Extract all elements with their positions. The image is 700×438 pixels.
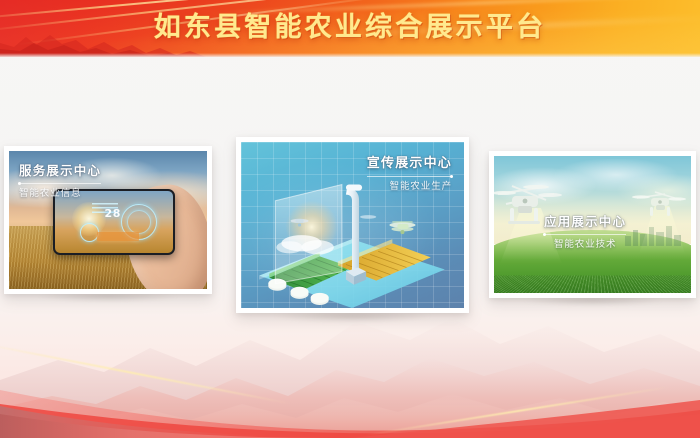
background-ribbons: [0, 318, 700, 438]
hud-ring-inner-icon: [127, 210, 151, 234]
card-promotion-text: 宣传展示中心 智能农业生产: [367, 156, 452, 193]
hud-ring-small-icon: [80, 223, 99, 242]
card-application-divider: [544, 234, 626, 235]
card-application-subtitle: 智能农业技术: [544, 238, 626, 251]
card-promotion-image: 宣传展示中心 智能农业生产: [241, 142, 464, 308]
drone-right-icon: [631, 186, 689, 220]
card-service-text: 服务展示中心 智能农业信息: [19, 163, 101, 200]
card-service-divider: [19, 183, 101, 184]
page-title: 如东县智能农业综合展示平台: [0, 7, 700, 49]
card-promotion[interactable]: 宣传展示中心 智能农业生产: [236, 137, 469, 313]
hud-temperature: 28: [105, 207, 121, 220]
card-application[interactable]: 应用展示中心 智能农业技术: [489, 151, 696, 298]
hud-chip: [97, 232, 139, 241]
app-root: 如东县智能农业综合展示平台: [0, 0, 700, 438]
card-promotion-subtitle: 智能农业生产: [367, 180, 452, 193]
card-service[interactable]: 28 服务展示中心 智能农业信息: [4, 146, 212, 294]
card-application-title: 应用展示中心: [544, 214, 626, 230]
card-promotion-divider: [367, 176, 452, 177]
header-banner: 如东县智能农业综合展示平台: [0, 0, 700, 57]
card-application-text: 应用展示中心 智能农业技术: [544, 214, 626, 251]
card-service-image: 28 服务展示中心 智能农业信息: [9, 151, 207, 289]
card-service-title: 服务展示中心: [19, 163, 101, 179]
header-bottom-fade: [0, 53, 700, 57]
card-promotion-title: 宣传展示中心: [367, 156, 452, 172]
card-application-image: 应用展示中心 智能农业技术: [494, 156, 691, 293]
card-service-subtitle: 智能农业信息: [19, 187, 101, 200]
